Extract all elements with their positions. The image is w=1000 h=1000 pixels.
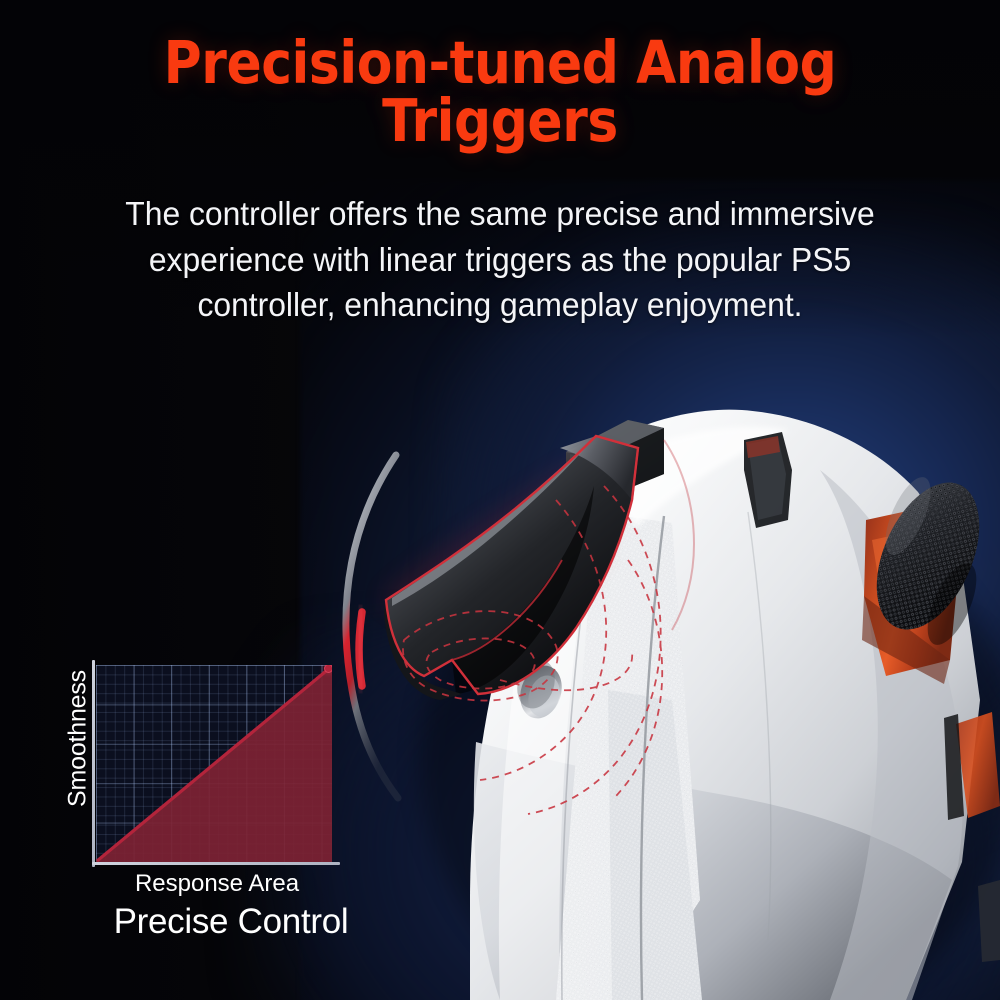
chart-y-axis-line xyxy=(92,660,95,867)
page-description: The controller offers the same precise a… xyxy=(90,192,911,329)
chart-y-axis-label: Smoothness xyxy=(64,649,93,829)
chart-x-axis-label: Response Area xyxy=(92,870,342,898)
response-chart: Smoothness Response Area Precise Control xyxy=(56,640,386,970)
poster-canvas: Precision-tuned Analog Triggers The cont… xyxy=(0,0,1000,1000)
chart-x-axis-line xyxy=(92,862,340,865)
page-title: Precision-tuned Analog Triggers xyxy=(60,34,940,151)
chart-caption: Precise Control xyxy=(66,902,396,942)
chart-endpoint-marker xyxy=(324,665,332,673)
chart-plot-area xyxy=(96,665,332,862)
chart-line xyxy=(96,665,332,862)
